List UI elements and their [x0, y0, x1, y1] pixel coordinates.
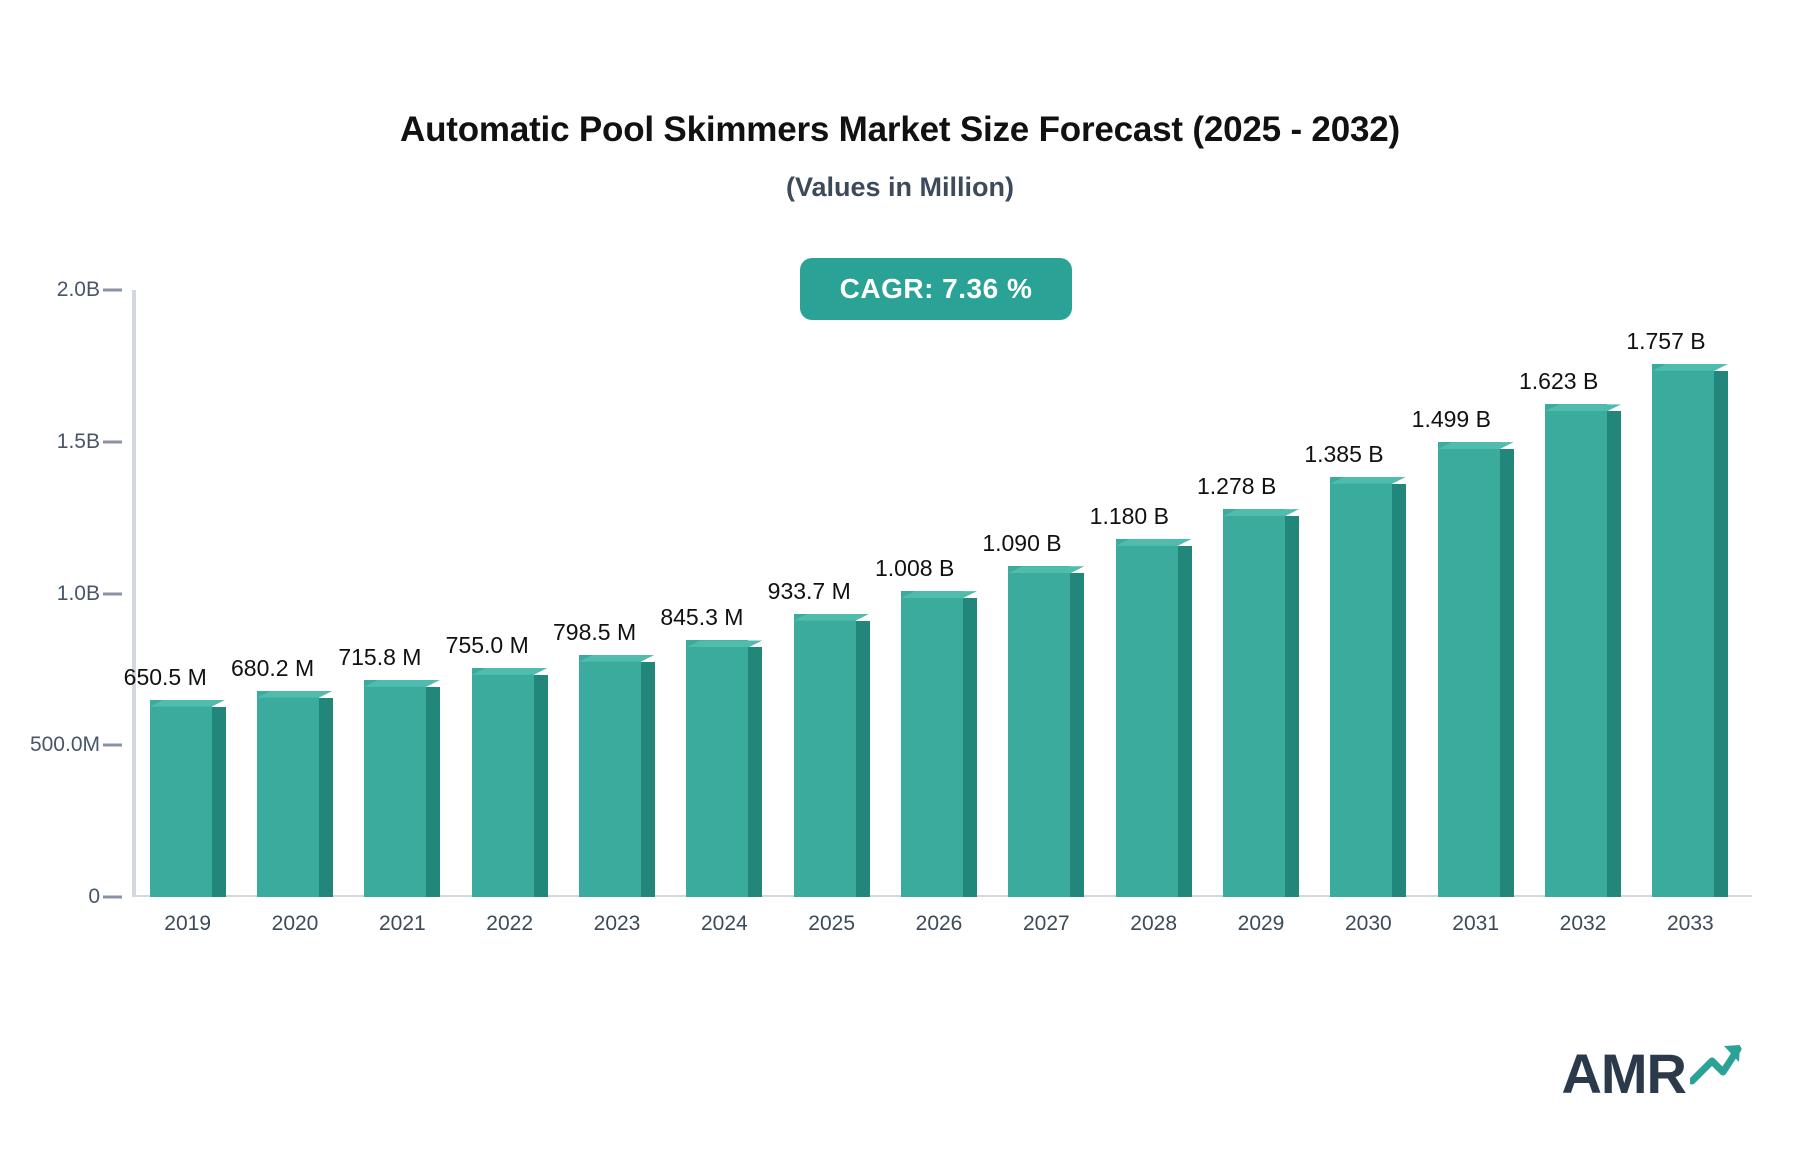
x-axis-tick-label: 2025: [808, 912, 855, 936]
bar-side-face: [1607, 411, 1621, 897]
bar-front-face: [579, 655, 641, 897]
x-axis-tick-label: 2021: [379, 912, 426, 936]
bar: [1652, 364, 1728, 897]
bar-side-face: [1285, 516, 1299, 897]
bar: [794, 614, 870, 897]
x-axis-tick-label: 2031: [1452, 912, 1499, 936]
bar: [364, 680, 440, 897]
bar-side-face: [319, 698, 333, 897]
x-axis-tick-label: 2026: [916, 912, 963, 936]
x-axis-tick-label: 2032: [1560, 912, 1607, 936]
bar-value-label: 1.278 B: [1197, 473, 1276, 500]
bar-side-face: [1392, 484, 1406, 897]
bar-side-face: [1500, 449, 1514, 897]
x-axis-tick-label: 2027: [1023, 912, 1070, 936]
bar: [1330, 477, 1406, 897]
bar-front-face: [150, 700, 212, 897]
bar-front-face: [1545, 404, 1607, 897]
bar-side-face: [534, 675, 548, 897]
bar-front-face: [1008, 566, 1070, 897]
amr-logo: AMR: [1561, 1041, 1742, 1102]
x-axis-tick-label: 2028: [1130, 912, 1177, 936]
bar-side-face: [641, 662, 655, 897]
bar: [901, 591, 977, 897]
bar-front-face: [1223, 509, 1285, 897]
x-axis-tick-label: 2029: [1238, 912, 1285, 936]
bar-side-face: [212, 707, 226, 897]
bar: [1116, 539, 1192, 897]
bar-front-face: [257, 691, 319, 897]
bar: [257, 691, 333, 897]
bar: [579, 655, 655, 897]
y-axis-tick-mark: [103, 440, 122, 443]
bar-side-face: [856, 621, 870, 897]
x-axis-tick-label: 2024: [701, 912, 748, 936]
bar-side-face: [426, 687, 440, 897]
bar-value-label: 798.5 M: [553, 619, 636, 646]
bar: [686, 640, 762, 897]
y-axis-tick-mark: [103, 744, 122, 747]
bar: [1008, 566, 1084, 897]
bar: [1545, 404, 1621, 897]
bar-value-label: 1.008 B: [875, 555, 954, 582]
bar-side-face: [1178, 546, 1192, 897]
chart-subtitle: (Values in Million): [0, 172, 1800, 203]
bar-front-face: [1652, 364, 1714, 897]
plot-area: 650.5 M680.2 M715.8 M755.0 M798.5 M845.3…: [132, 290, 1742, 897]
bar-value-label: 1.180 B: [1090, 503, 1169, 530]
bar-value-label: 1.090 B: [982, 530, 1061, 557]
bar-front-face: [901, 591, 963, 897]
bar-value-label: 680.2 M: [231, 655, 314, 682]
bar-value-label: 1.757 B: [1626, 328, 1705, 355]
bar-value-label: 933.7 M: [768, 578, 851, 605]
bar-front-face: [1438, 442, 1500, 897]
bar-value-label: 1.499 B: [1412, 406, 1491, 433]
x-axis-tick-label: 2022: [486, 912, 533, 936]
bar-value-label: 755.0 M: [446, 632, 529, 659]
amr-logo-text: AMR: [1561, 1046, 1686, 1102]
bar-value-label: 650.5 M: [124, 664, 207, 691]
page-title: Automatic Pool Skimmers Market Size Fore…: [0, 110, 1800, 150]
bar: [472, 668, 548, 897]
bar-value-label: 715.8 M: [338, 644, 421, 671]
bar-front-face: [1116, 539, 1178, 897]
y-axis-tick-mark: [103, 896, 122, 899]
bar: [150, 700, 226, 897]
x-axis-tick-label: 2030: [1345, 912, 1392, 936]
x-axis-tick-label: 2023: [594, 912, 641, 936]
bar-value-label: 1.385 B: [1304, 441, 1383, 468]
bar-side-face: [963, 598, 977, 897]
bar-value-label: 1.623 B: [1519, 368, 1598, 395]
bar: [1223, 509, 1299, 897]
bar-front-face: [686, 640, 748, 897]
bar-front-face: [472, 668, 534, 897]
bar-front-face: [1330, 477, 1392, 897]
chart-canvas: Automatic Pool Skimmers Market Size Fore…: [0, 0, 1800, 1156]
x-axis-tick-label: 2033: [1667, 912, 1714, 936]
bar-side-face: [1714, 371, 1728, 897]
bar-front-face: [364, 680, 426, 897]
bar-side-face: [1070, 573, 1084, 897]
x-axis-tick-label: 2020: [272, 912, 319, 936]
bar-value-label: 845.3 M: [660, 604, 743, 631]
y-axis-tick-mark: [103, 592, 122, 595]
up-right-arrow-icon: [1690, 1041, 1742, 1092]
bar-front-face: [794, 614, 856, 897]
bar-side-face: [748, 647, 762, 897]
y-axis-tick-mark: [103, 289, 122, 292]
bar: [1438, 442, 1514, 897]
x-axis-tick-label: 2019: [164, 912, 211, 936]
